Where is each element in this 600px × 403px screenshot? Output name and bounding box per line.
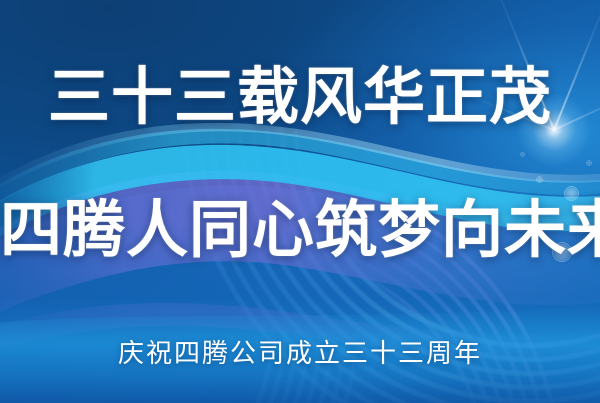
headline-line-2: 四腾人同心筑梦向未来: [0, 199, 600, 263]
bokeh-circle-6: [520, 152, 525, 157]
headline-line-1: 三十三载风华正茂: [0, 66, 600, 130]
bokeh-circle-5: [586, 160, 592, 166]
subtitle: 庆祝四腾公司成立三十三周年: [0, 339, 600, 369]
anniversary-banner: 三十三载风华正茂 四腾人同心筑梦向未来 庆祝四腾公司成立三十三周年: [0, 0, 600, 403]
bokeh-circle-4: [536, 176, 543, 183]
